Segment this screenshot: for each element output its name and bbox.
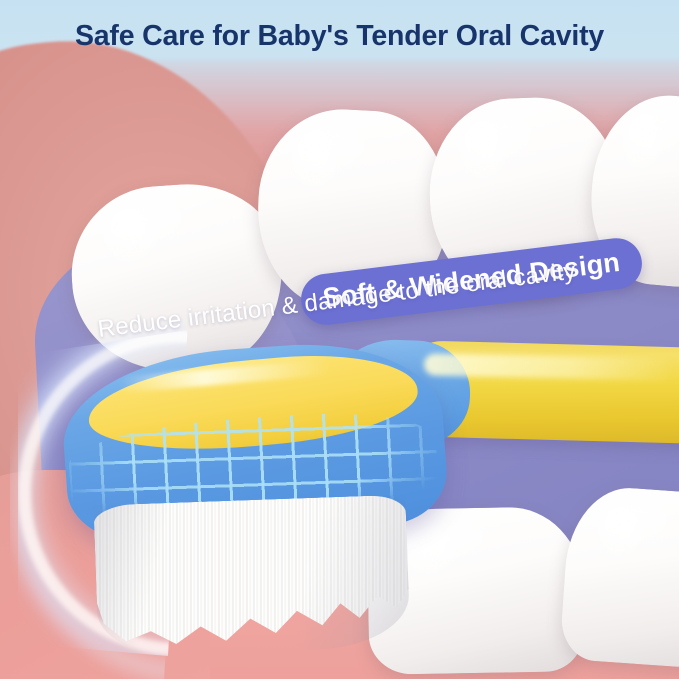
brush-bristles xyxy=(93,495,410,658)
page-title: Safe Care for Baby's Tender Oral Cavity xyxy=(0,20,679,53)
product-marketing-poster: Safe Care for Baby's Tender Oral Cavity … xyxy=(0,0,679,679)
